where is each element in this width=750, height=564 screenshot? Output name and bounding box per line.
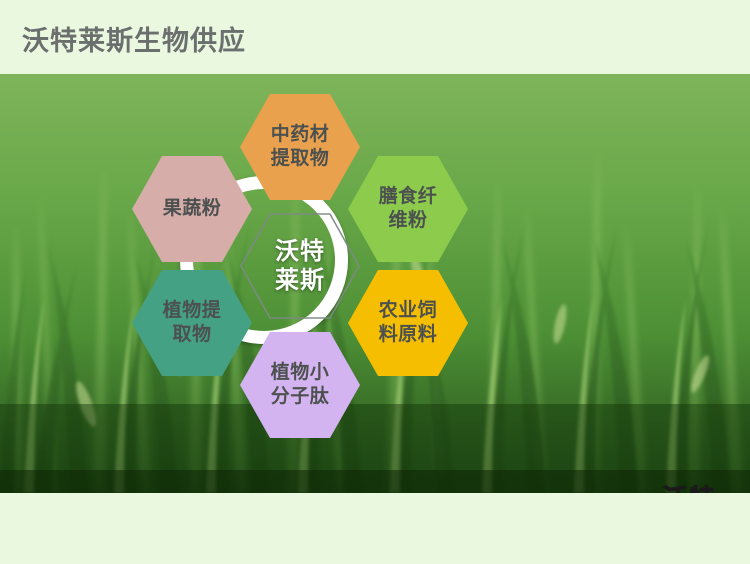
hex-label-line2: 分子肽 <box>271 386 330 407</box>
hex-label-line1: 果蔬粉 <box>163 198 222 219</box>
hex-label-upper-right: 膳食纤 维粉 <box>371 185 445 233</box>
hex-label-top: 中药材 提取物 <box>263 123 337 171</box>
hex-node-bottom[interactable]: 植物小 分子肽 <box>240 332 360 438</box>
hex-label-center: 沃特 莱斯 <box>275 237 325 296</box>
hex-label-line2: 提取物 <box>271 148 330 169</box>
hex-label-line1: 膳食纤 <box>379 186 438 207</box>
center-label-line1: 沃特 <box>275 238 325 265</box>
hex-label-upper-left: 果蔬粉 <box>155 197 229 221</box>
background-photo: 果蔬粉 中药材 提取物 膳食纤 维粉 农业饲 料原料 <box>0 74 750 493</box>
hex-label-bottom: 植物小 分子肽 <box>263 361 337 409</box>
footer-bar <box>0 493 750 564</box>
slide-root: 沃特莱斯生物供应 <box>0 0 750 564</box>
hex-label-lower-left: 植物提 取物 <box>155 299 229 347</box>
hex-node-lower-right[interactable]: 农业饲 料原料 <box>348 270 468 376</box>
header-bar: 沃特莱斯生物供应 <box>0 0 750 74</box>
hex-label-line2: 料原料 <box>379 324 438 345</box>
hex-label-line2: 维粉 <box>388 210 427 231</box>
hex-label-line1: 植物小 <box>271 362 330 383</box>
hex-label-line2: 取物 <box>172 324 211 345</box>
hex-label-line1: 中药材 <box>271 124 330 145</box>
brand-watermark: 沃特 莱斯 <box>648 485 730 493</box>
page-title: 沃特莱斯生物供应 <box>22 19 246 58</box>
hex-label-line1: 农业饲 <box>379 300 438 321</box>
center-label-line2: 莱斯 <box>275 267 325 294</box>
hexagon-cluster: 果蔬粉 中药材 提取物 膳食纤 维粉 农业饲 料原料 <box>120 80 480 440</box>
hex-label-lower-right: 农业饲 料原料 <box>371 299 445 347</box>
hex-node-upper-right[interactable]: 膳食纤 维粉 <box>348 156 468 262</box>
watermark-line1: 沃特 <box>662 484 716 493</box>
hex-label-line1: 植物提 <box>163 300 222 321</box>
hex-node-center[interactable]: 沃特 莱斯 <box>240 213 360 319</box>
